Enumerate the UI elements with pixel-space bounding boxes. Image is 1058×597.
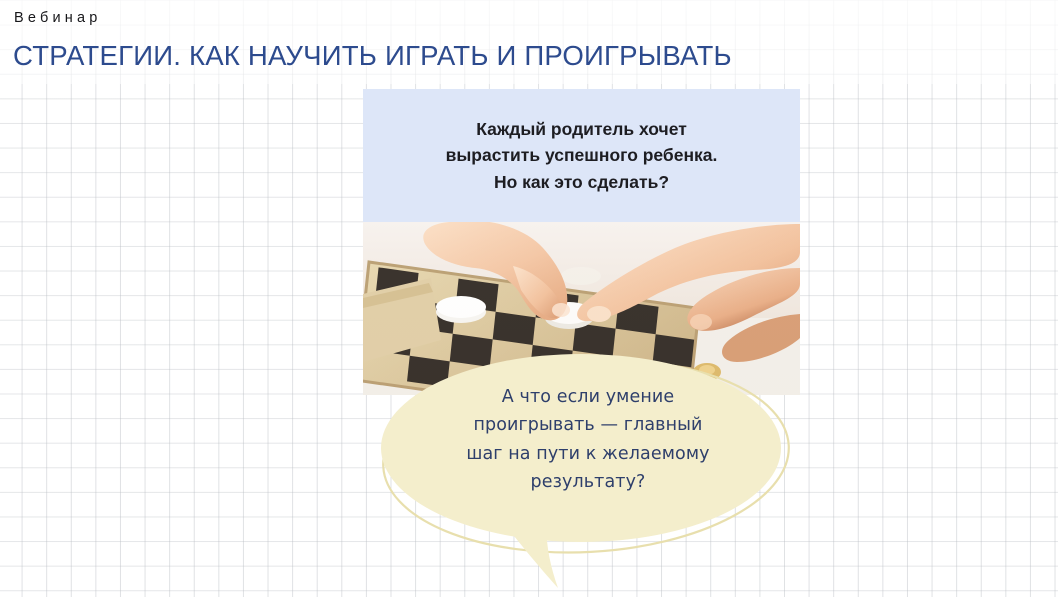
intro-card-text: Каждый родитель хочет вырастить успешног… [432, 116, 732, 196]
intro-card: Каждый родитель хочет вырастить успешног… [363, 89, 800, 222]
page-title: СТРАТЕГИИ. КАК НАУЧИТЬ ИГРАТЬ И ПРОИГРЫВ… [13, 40, 732, 72]
speech-bubble-text: А что если умение проигрывать — главный … [390, 383, 786, 496]
slide-eyebrow: Вебинар [14, 10, 102, 26]
slide-canvas: Вебинар СТРАТЕГИИ. КАК НАУЧИТЬ ИГРАТЬ И … [0, 0, 1058, 597]
